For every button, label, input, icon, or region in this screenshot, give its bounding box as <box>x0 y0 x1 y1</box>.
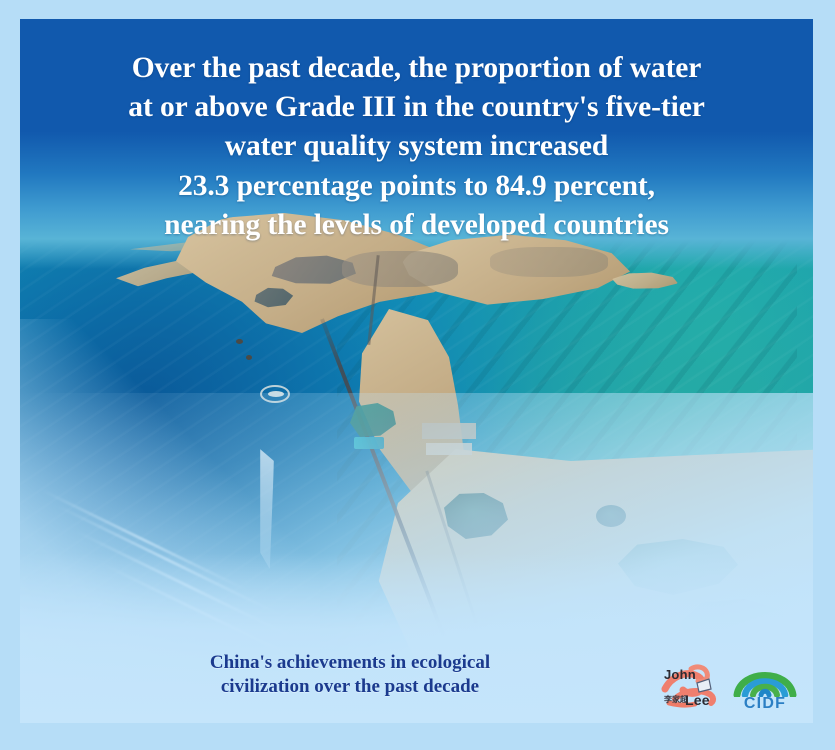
headline-line-5: nearing the levels of developed countrie… <box>38 206 795 245</box>
caption: China's achievements in ecological civil… <box>80 651 620 699</box>
cidf-wordmark: CIDF <box>729 695 801 713</box>
headline-line-3: water quality system increased <box>38 127 795 166</box>
headline-line-2: at or above Grade III in the country's f… <box>38 88 795 127</box>
headline: Over the past decade, the proportion of … <box>20 49 813 245</box>
john-lee-logo-line1: John <box>664 667 696 682</box>
poster-inner-panel: Over the past decade, the proportion of … <box>20 19 813 723</box>
logo-group: John 李家超 Lee CIDF <box>661 659 801 715</box>
graded-patch <box>342 251 458 287</box>
cidf-arcs-icon <box>733 661 797 697</box>
poster-root: Over the past decade, the proportion of … <box>0 0 835 750</box>
headline-line-4: 23.3 percentage points to 84.9 percent, <box>38 167 795 206</box>
john-lee-logo[interactable]: John 李家超 Lee <box>661 659 723 715</box>
caption-line-2: civilization over the past decade <box>80 675 620 699</box>
john-lee-logo-line2: Lee <box>685 692 710 708</box>
graded-patch <box>490 247 608 277</box>
headline-line-1: Over the past decade, the proportion of … <box>38 49 795 88</box>
caption-line-1: China's achievements in ecological <box>80 651 620 675</box>
cidf-logo[interactable]: CIDF <box>729 659 801 715</box>
